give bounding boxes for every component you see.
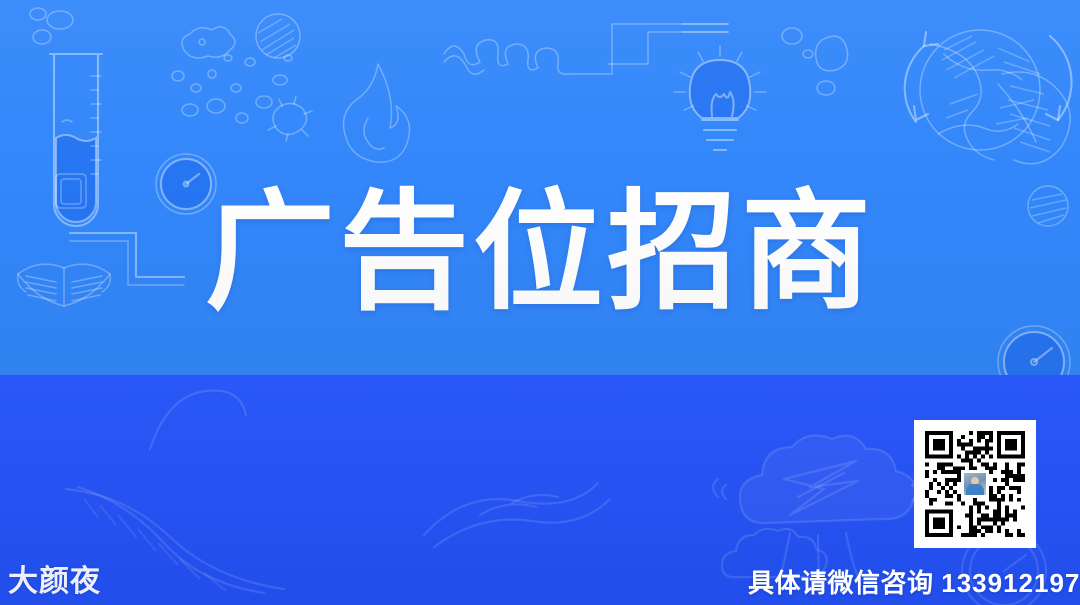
ad-banner: 广告位招商: [0, 0, 1080, 605]
bubbles-icon: [20, 4, 90, 54]
globe-icon: [880, 8, 1070, 183]
coil-spring-icon: [442, 10, 742, 80]
flame-icon: [334, 58, 414, 168]
contact-label: 具体请微信咨询: [748, 568, 934, 598]
contact-phone[interactable]: 13391219703: [941, 568, 1080, 598]
wechat-qr-code[interactable]: [914, 420, 1036, 548]
hero-panel: 广告位招商: [0, 0, 1080, 375]
cells-icon: [168, 14, 318, 144]
page-title: 广告位招商: [0, 186, 1080, 318]
qr-avatar-icon: [962, 471, 988, 497]
leaf-icon: [988, 60, 1080, 170]
leaf-icon: [60, 485, 290, 605]
leaf-icon: [420, 467, 680, 577]
contact-line: 具体请微信咨询 13391219703: [748, 566, 1080, 600]
lightbulb-icon: [660, 40, 780, 170]
planet-icon: [140, 379, 250, 459]
bubbles-icon: [778, 22, 858, 122]
gauge-icon: [990, 318, 1080, 375]
avatar-body: [966, 484, 984, 495]
